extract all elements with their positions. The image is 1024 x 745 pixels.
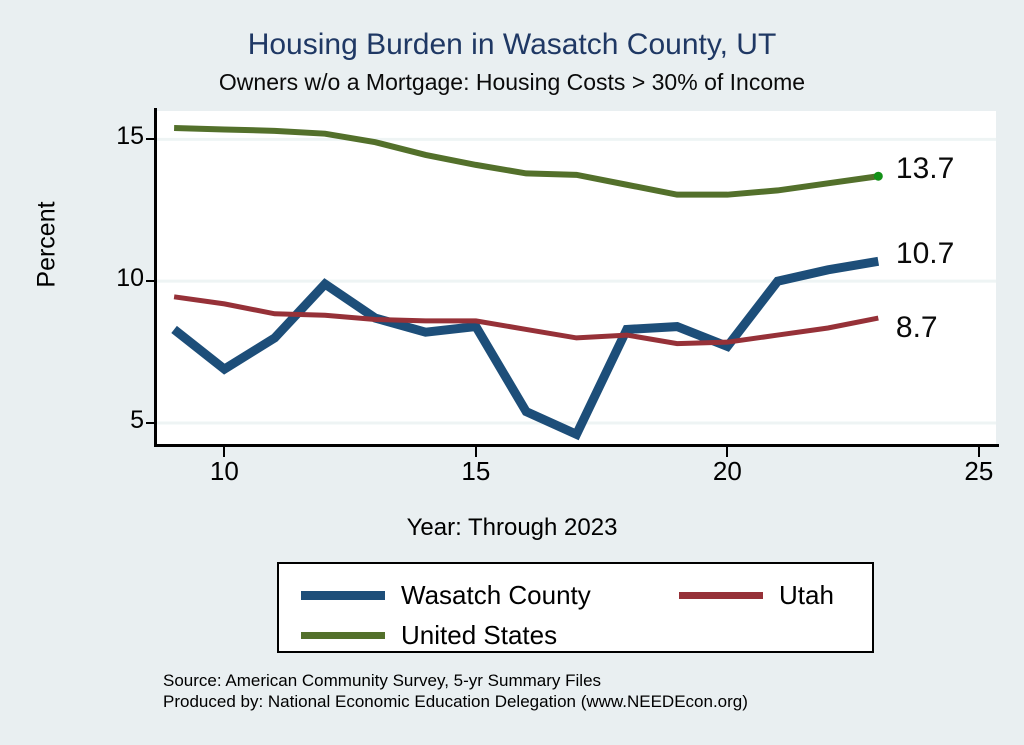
footer-source-line: Source: American Community Survey, 5-yr … [163,670,748,691]
legend-swatch-united-states [301,632,385,639]
y-tick-mark [146,280,155,282]
x-tick-label: 25 [949,456,1009,487]
end-marker-united-states [874,172,883,181]
x-tick-label: 10 [194,456,254,487]
chart-footer: Source: American Community Survey, 5-yr … [163,670,748,712]
x-tick-label: 20 [697,456,757,487]
series-end-label: 10.7 [896,237,954,271]
series-line-wasatch-county [174,261,878,434]
y-axis-title: Percent [33,135,62,355]
chart-figure: Housing Burden in Wasatch County, UT Own… [0,0,1024,745]
y-tick-label: 10 [84,264,144,293]
chart-legend: Wasatch County Utah United States [277,562,874,653]
footer-produced-line: Produced by: National Economic Education… [163,691,748,712]
x-axis-title: Year: Through 2023 [0,514,1024,542]
legend-label-wasatch-county: Wasatch County [401,582,591,608]
series-end-label: 13.7 [896,152,954,186]
y-tick-mark [146,138,155,140]
x-axis-line [154,444,999,447]
y-axis-line [154,108,157,447]
series-end-label: 8.7 [896,311,938,345]
x-tick-label: 15 [446,456,506,487]
legend-item-united-states[interactable]: United States [301,622,557,648]
chart-subtitle: Owners w/o a Mortgage: Housing Costs > 3… [0,64,1024,97]
chart-title: Housing Burden in Wasatch County, UT [0,0,1024,64]
plot-svg [157,111,996,444]
chart-header: Housing Burden in Wasatch County, UT Own… [0,0,1024,97]
legend-label-utah: Utah [779,582,834,608]
legend-item-wasatch-county[interactable]: Wasatch County [301,582,591,608]
y-tick-mark [146,422,155,424]
gridlines [157,139,996,423]
legend-swatch-wasatch-county [301,591,385,600]
series-end-markers [874,172,883,181]
legend-label-united-states: United States [401,622,557,648]
legend-swatch-utah [679,592,763,599]
y-tick-label: 5 [84,406,144,435]
y-tick-label: 15 [84,122,144,151]
plot-area [157,111,996,444]
legend-item-utah[interactable]: Utah [679,582,834,608]
